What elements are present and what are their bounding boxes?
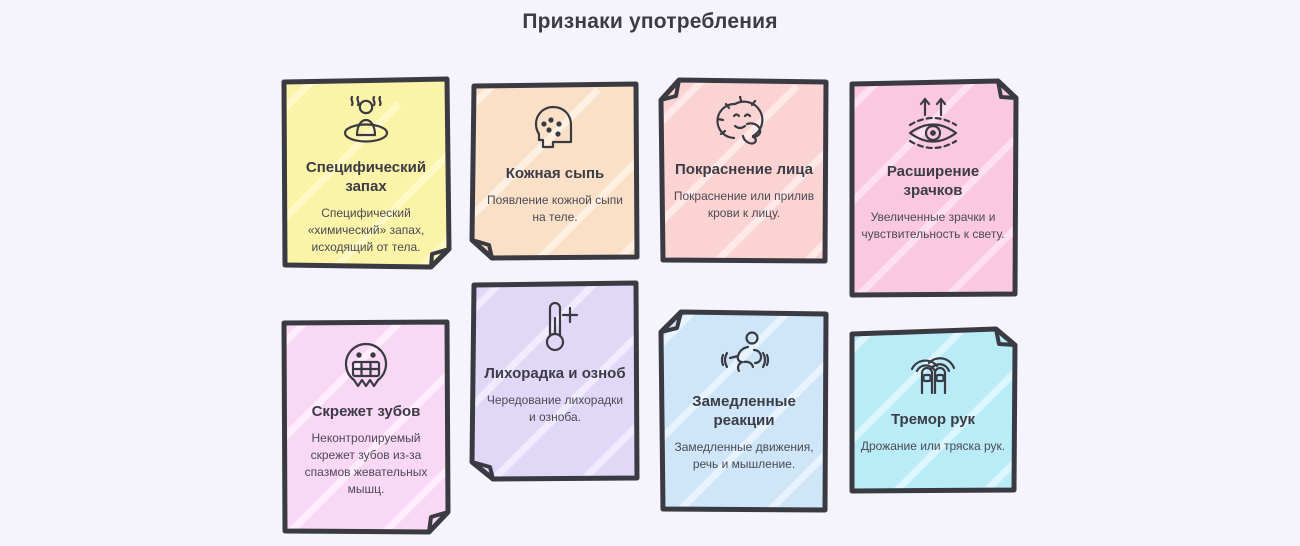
card-description: Увеличенные зрачки и чувствительность к … bbox=[860, 209, 1006, 243]
card-description: Чередование лихорадки и озноба. bbox=[482, 392, 628, 426]
card-description: Специфический «химический» запах, исходя… bbox=[293, 205, 439, 256]
card-description: Дрожание или тряска рук. bbox=[861, 438, 1005, 455]
card-teeth-grinding[interactable]: Скрежет зубов Неконтролируемый скрежет з… bbox=[279, 318, 453, 538]
card-title: Расширение зрачков bbox=[860, 162, 1006, 200]
trembling-hands-icon bbox=[898, 342, 968, 404]
rash-head-icon bbox=[520, 96, 590, 158]
card-dilated-pupils[interactable]: Расширение зрачков Увеличенные зрачки и … bbox=[846, 78, 1020, 300]
eye-dilated-icon bbox=[898, 94, 968, 156]
card-description: Замедленные движения, речь и мышление. bbox=[671, 439, 817, 473]
grinding-teeth-icon bbox=[331, 334, 401, 396]
card-title: Покраснение лица bbox=[675, 160, 813, 179]
card-title: Лихорадка и озноб bbox=[484, 364, 625, 383]
card-title: Замедленные реакции bbox=[671, 392, 817, 430]
running-person-icon bbox=[709, 324, 779, 386]
card-description: Неконтролируемый скрежет зубов из-за спа… bbox=[293, 430, 439, 498]
card-facial-redness[interactable]: Покраснение лица Покраснение или прилив … bbox=[657, 76, 831, 266]
card-content: Скрежет зубов Неконтролируемый скрежет з… bbox=[279, 318, 453, 538]
card-title: Кожная сыпь bbox=[506, 164, 605, 183]
card-content: Кожная сыпь Появление кожной сыпи на тел… bbox=[468, 80, 642, 262]
card-content: Лихорадка и озноб Чередование лихорадки … bbox=[468, 280, 642, 484]
card-content: Тремор рук Дрожание или тряска рук. bbox=[846, 326, 1020, 496]
symptom-card-board: Специфический запах Специфический «химич… bbox=[0, 0, 1300, 546]
card-slowed-reactions[interactable]: Замедленные реакции Замедленные движения… bbox=[657, 308, 831, 516]
card-description: Появление кожной сыпи на теле. bbox=[482, 192, 628, 226]
card-content: Расширение зрачков Увеличенные зрачки и … bbox=[846, 78, 1020, 300]
card-title: Тремор рук bbox=[891, 410, 975, 429]
thermometer-icon bbox=[520, 296, 590, 358]
card-title: Специфический запах bbox=[293, 158, 439, 196]
card-skin-rash[interactable]: Кожная сыпь Появление кожной сыпи на тел… bbox=[468, 80, 642, 262]
card-specific-smell[interactable]: Специфический запах Специфический «химич… bbox=[279, 74, 453, 272]
smell-person-icon bbox=[331, 90, 401, 152]
card-description: Покраснение или прилив крови к лицу. bbox=[671, 188, 817, 222]
card-content: Покраснение лица Покраснение или прилив … bbox=[657, 76, 831, 266]
card-fever-chills[interactable]: Лихорадка и озноб Чередование лихорадки … bbox=[468, 280, 642, 484]
card-content: Замедленные реакции Замедленные движения… bbox=[657, 308, 831, 516]
card-title: Скрежет зубов bbox=[312, 402, 421, 421]
card-hand-tremor[interactable]: Тремор рук Дрожание или тряска рук. bbox=[846, 326, 1020, 496]
card-content: Специфический запах Специфический «химич… bbox=[279, 74, 453, 272]
flushed-face-icon bbox=[709, 92, 779, 154]
